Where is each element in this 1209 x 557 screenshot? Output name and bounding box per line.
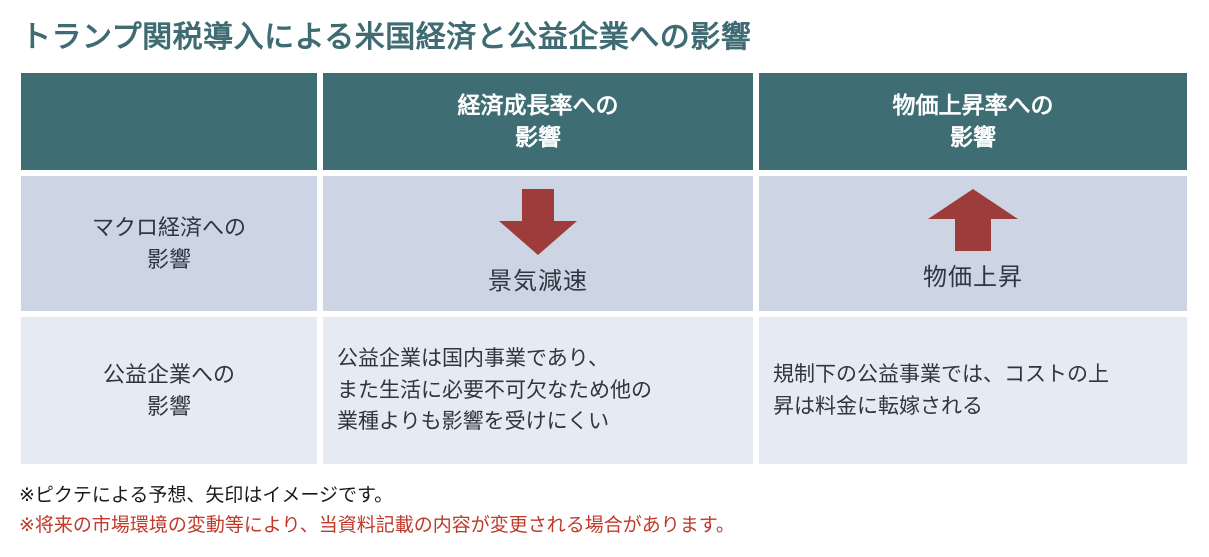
caption-price-rise: 物価上昇 <box>923 257 1023 292</box>
impact-matrix-table: 経済成長率への 影響 物価上昇率への 影響 マクロ経済への 影響 景気減速 物価… <box>21 73 1187 464</box>
footnote-disclaimer: ※将来の市場環境の変動等により、当資料記載の内容が変更される場合があります。 <box>19 512 735 540</box>
arrow-up-icon <box>928 189 1018 251</box>
header-cell-corner <box>21 73 317 170</box>
text-utility-growth-impact: 公益企業は国内事業であり、 また生活に必要不可欠なため他の 業種よりも影響を受け… <box>337 343 652 439</box>
cell-utility-price-impact: 規制下の公益事業では、コストの上 昇は料金に転嫁される <box>759 317 1187 464</box>
footnotes: ※ピクテによる予想、矢印はイメージです。 ※将来の市場環境の変動等により、当資料… <box>19 482 735 539</box>
row-label-utility-companies: 公益企業への 影響 <box>21 317 317 464</box>
table-row-utility-companies: 公益企業への 影響 公益企業は国内事業であり、 また生活に必要不可欠なため他の … <box>21 317 1187 464</box>
footnote-forecast-note: ※ピクテによる予想、矢印はイメージです。 <box>19 482 735 510</box>
page-title: トランプ関税導入による米国経済と公益企業への影響 <box>21 12 751 56</box>
cell-macro-growth-impact: 景気減速 <box>323 176 753 311</box>
arrow-down-icon <box>499 189 577 255</box>
caption-growth-slowdown: 景気減速 <box>488 261 588 296</box>
table-row-macro-economy: マクロ経済への 影響 景気減速 物価上昇 <box>21 176 1187 311</box>
row-label-macro-economy: マクロ経済への 影響 <box>21 176 317 311</box>
header-cell-growth-impact: 経済成長率への 影響 <box>323 73 753 170</box>
cell-utility-growth-impact: 公益企業は国内事業であり、 また生活に必要不可欠なため他の 業種よりも影響を受け… <box>323 317 753 464</box>
table-header-row: 経済成長率への 影響 物価上昇率への 影響 <box>21 73 1187 170</box>
text-utility-price-impact: 規制下の公益事業では、コストの上 昇は料金に転嫁される <box>773 359 1109 423</box>
header-cell-price-impact: 物価上昇率への 影響 <box>759 73 1187 170</box>
cell-macro-price-impact: 物価上昇 <box>759 176 1187 311</box>
